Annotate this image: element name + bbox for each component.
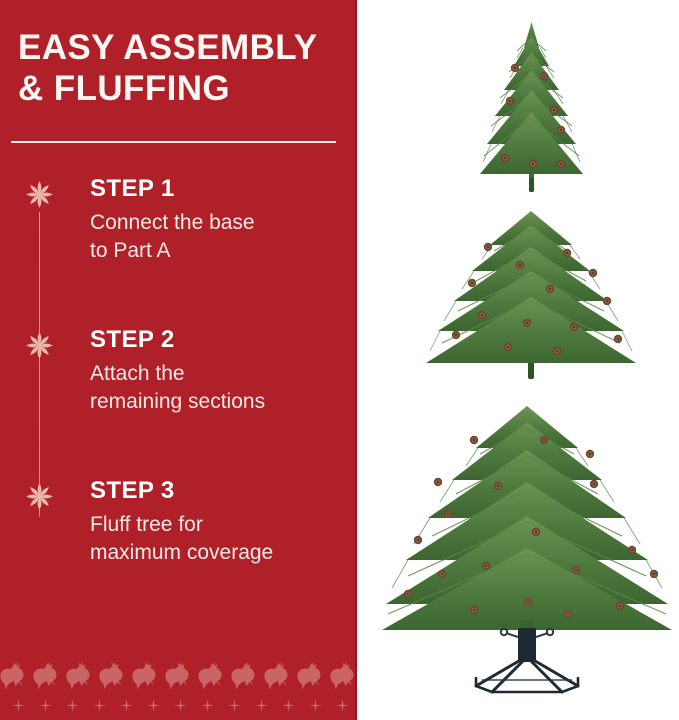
star-cross-icon: [336, 699, 349, 712]
star-cross-icon: [93, 699, 106, 712]
reindeer-icon: [0, 662, 27, 690]
step-content: STEP 1 Connect the base to Part A: [90, 174, 345, 265]
list-item: STEP 3 Fluff tree for maximum coverage: [0, 478, 357, 629]
reindeer-icon: [29, 662, 60, 690]
step-description-line-2: to Part A: [90, 237, 345, 265]
star-cross-icon: [282, 699, 295, 712]
star-cross-icon: [201, 699, 214, 712]
list-item: STEP 1 Connect the base to Part A: [0, 176, 357, 327]
star-cross-icon: [174, 699, 187, 712]
reindeer-icon: [161, 662, 192, 690]
step-description-line-1: Fluff tree for: [90, 511, 345, 539]
page-title-line-1: EASY ASSEMBLY: [18, 27, 343, 68]
star-cross-icon: [66, 699, 79, 712]
decorative-border: [0, 644, 357, 720]
step-description-line-1: Attach the: [90, 360, 345, 388]
step-title: STEP 2: [90, 325, 345, 355]
step-description-line-2: maximum coverage: [90, 539, 345, 567]
star-cross-icon: [39, 699, 52, 712]
snowflake-icon: [23, 329, 56, 362]
step-title: STEP 3: [90, 476, 345, 506]
tree-stand: [462, 628, 592, 698]
title-divider: [11, 141, 336, 143]
reindeer-icon: [128, 662, 159, 690]
step-description: Connect the base to Part A: [90, 209, 345, 265]
tree-section-middle: [422, 205, 642, 390]
star-cross-icon: [228, 699, 241, 712]
instructions-panel: EASY ASSEMBLY & FLUFFING: [0, 0, 357, 720]
snowflake-icon: [23, 178, 56, 211]
reindeer-icon: [95, 662, 126, 690]
step-content: STEP 2 Attach the remaining sections: [90, 325, 345, 416]
reindeer-icon: [194, 662, 225, 690]
reindeer-icon: [227, 662, 258, 690]
step-description: Fluff tree for maximum coverage: [90, 511, 345, 567]
page-title-line-2: & FLUFFING: [18, 68, 343, 109]
step-list: STEP 1 Connect the base to Part A: [0, 176, 357, 629]
reindeer-icon: [293, 662, 324, 690]
infographic-page: EASY ASSEMBLY & FLUFFING: [0, 0, 679, 720]
step-description-line-1: Connect the base: [90, 209, 345, 237]
snowflake-icon: [23, 480, 56, 513]
reindeer-icon: [260, 662, 291, 690]
reindeer-icon: [62, 662, 93, 690]
product-image-panel: [357, 0, 679, 720]
star-cross-icon: [12, 699, 25, 712]
step-content: STEP 3 Fluff tree for maximum coverage: [90, 476, 345, 567]
star-cross-icon: [309, 699, 322, 712]
tree-section-top: [467, 18, 597, 203]
reindeer-icon: [326, 662, 357, 690]
tree-section-bottom: [382, 398, 672, 653]
step-description: Attach the remaining sections: [90, 360, 345, 416]
list-item: STEP 2 Attach the remaining sections: [0, 327, 357, 478]
page-title: EASY ASSEMBLY & FLUFFING: [18, 27, 343, 110]
star-cross-icon: [120, 699, 133, 712]
star-cross-icon: [147, 699, 160, 712]
step-description-line-2: remaining sections: [90, 388, 345, 416]
star-cross-icon: [255, 699, 268, 712]
step-title: STEP 1: [90, 174, 345, 204]
